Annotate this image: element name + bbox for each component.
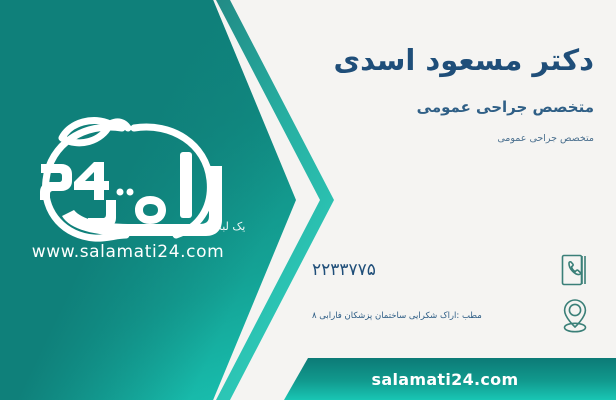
doctor-name: دکتر مسعود اسدی (314, 42, 594, 78)
footer-website[interactable]: salamati24.com (372, 370, 519, 389)
phone-book-icon (554, 248, 596, 292)
footer-bar: salamati24.com (284, 358, 616, 400)
doctor-business-card: به راحتی یک لبخند www.salamati24.com دکت… (0, 0, 616, 400)
logo-website-url: www.salamati24.com (10, 242, 246, 262)
apple-logo-icon: به راحتی یک لبخند (10, 104, 246, 244)
card-content: دکتر مسعود اسدی متخصص جراحی عمومی متخصص … (310, 0, 600, 400)
doctor-specialty: متخصص جراحی عمومی (314, 98, 594, 118)
brand-logo: به راحتی یک لبخند www.salamati24.com (10, 104, 246, 280)
contact-row-phone: ۲۲۳۳۷۷۵ (308, 248, 596, 292)
phone-number[interactable]: ۲۲۳۳۷۷۵ (308, 260, 554, 280)
doctor-specialty-secondary: متخصص جراحی عمومی (314, 132, 594, 145)
contact-row-address: مطب :اراک شکرایی ساختمان پزشکان فارابی ۸ (308, 292, 596, 340)
logo-tagline-text: به راحتی یک لبخند (206, 220, 246, 233)
clinic-address[interactable]: مطب :اراک شکرایی ساختمان پزشکان فارابی ۸ (308, 310, 554, 323)
location-pin-icon (554, 294, 596, 338)
